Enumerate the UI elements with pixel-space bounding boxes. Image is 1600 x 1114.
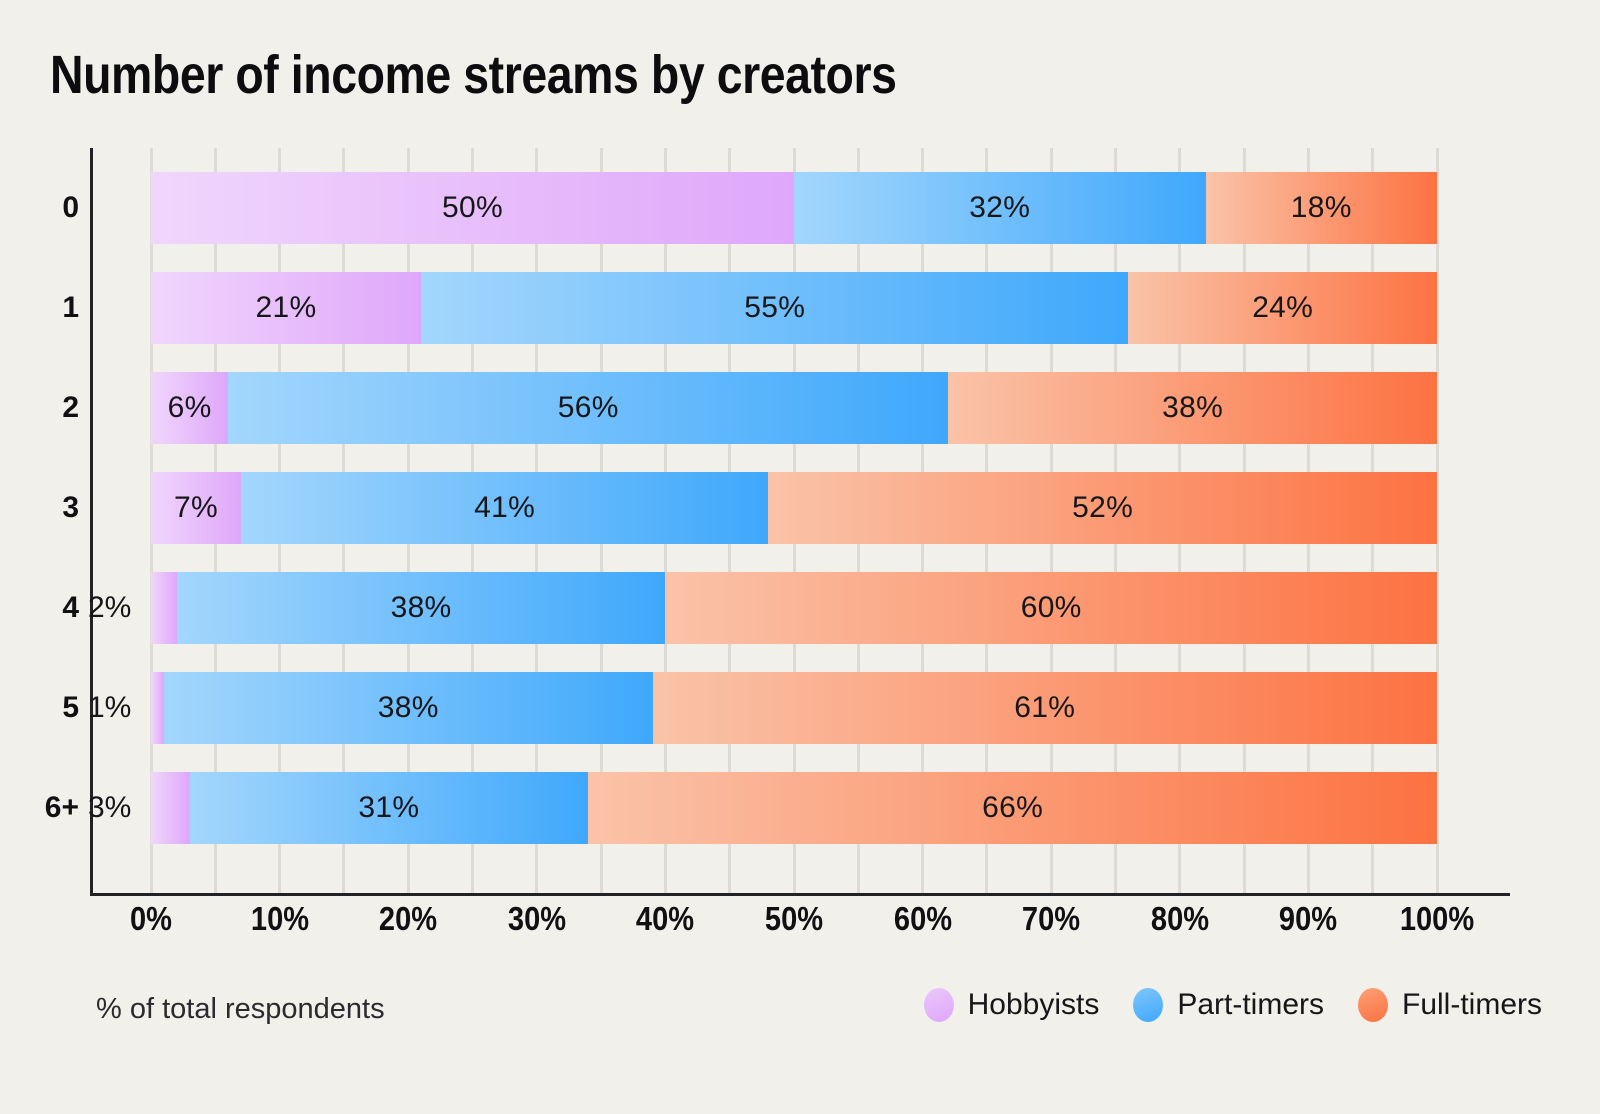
stacked-bar: 38%61% bbox=[151, 672, 1437, 744]
y-axis-category-label: 2 bbox=[35, 372, 79, 444]
bar-segment-hobbyists[interactable] bbox=[151, 672, 164, 744]
y-axis-category-label: 3 bbox=[35, 472, 79, 544]
bar-value-label-outside: 2% bbox=[88, 572, 131, 644]
stacked-bar: 6%56%38% bbox=[151, 372, 1437, 444]
legend-item-fulltimers[interactable]: Full-timers bbox=[1358, 988, 1542, 1022]
bar-row: 050%32%18% bbox=[90, 172, 1510, 244]
stacked-bar: 7%41%52% bbox=[151, 472, 1437, 544]
x-axis-tick-label: 80% bbox=[1151, 900, 1209, 938]
bar-value-label: 6% bbox=[168, 391, 212, 425]
legend-swatch-icon bbox=[1133, 988, 1163, 1022]
y-axis-category-label: 0 bbox=[35, 172, 79, 244]
legend-item-parttimers[interactable]: Part-timers bbox=[1133, 988, 1324, 1022]
bar-segment-parttimers[interactable]: 56% bbox=[228, 372, 948, 444]
bar-value-label-outside: 1% bbox=[88, 672, 131, 744]
stacked-bar: 31%66% bbox=[151, 772, 1437, 844]
bar-segment-hobbyists[interactable] bbox=[151, 772, 190, 844]
bar-value-label: 24% bbox=[1252, 291, 1313, 325]
bar-segment-fulltimers[interactable]: 66% bbox=[588, 772, 1437, 844]
bar-segment-fulltimers[interactable]: 18% bbox=[1206, 172, 1437, 244]
bar-value-label: 31% bbox=[358, 791, 419, 825]
bar-segment-hobbyists[interactable]: 50% bbox=[151, 172, 794, 244]
bar-value-label: 38% bbox=[378, 691, 439, 725]
bar-value-label: 61% bbox=[1014, 691, 1075, 725]
bar-value-label: 38% bbox=[1162, 391, 1223, 425]
bar-row: 37%41%52% bbox=[90, 472, 1510, 544]
x-axis-line bbox=[90, 893, 1510, 896]
stacked-bar: 50%32%18% bbox=[151, 172, 1437, 244]
x-axis-tick-label: 20% bbox=[379, 900, 437, 938]
bar-segment-fulltimers[interactable]: 24% bbox=[1128, 272, 1437, 344]
stacked-bar: 21%55%24% bbox=[151, 272, 1437, 344]
bar-value-label: 18% bbox=[1291, 191, 1352, 225]
bar-value-label: 50% bbox=[442, 191, 503, 225]
y-axis-category-label: 4 bbox=[35, 572, 79, 644]
legend-label: Part-timers bbox=[1177, 988, 1324, 1022]
bar-row: 26%56%38% bbox=[90, 372, 1510, 444]
bar-row: 121%55%24% bbox=[90, 272, 1510, 344]
bar-value-label: 56% bbox=[558, 391, 619, 425]
bar-value-label: 38% bbox=[391, 591, 452, 625]
bar-value-label: 55% bbox=[744, 291, 805, 325]
legend-swatch-icon bbox=[1358, 988, 1388, 1022]
legend-swatch-icon bbox=[924, 988, 954, 1022]
x-axis-tick-label: 100% bbox=[1400, 900, 1474, 938]
x-axis-tick-label: 70% bbox=[1022, 900, 1080, 938]
page-title: Number of income streams by creators bbox=[50, 44, 897, 106]
x-axis-tick-label: 40% bbox=[636, 900, 694, 938]
y-axis-category-label: 1 bbox=[35, 272, 79, 344]
bar-value-label: 41% bbox=[474, 491, 535, 525]
bar-value-label: 7% bbox=[174, 491, 218, 525]
bar-value-label-outside: 3% bbox=[88, 772, 131, 844]
bar-segment-parttimers[interactable]: 55% bbox=[421, 272, 1128, 344]
bar-value-label: 66% bbox=[982, 791, 1043, 825]
y-axis-category-label: 6+ bbox=[35, 772, 79, 844]
bar-segment-fulltimers[interactable]: 38% bbox=[948, 372, 1437, 444]
bar-segment-fulltimers[interactable]: 60% bbox=[665, 572, 1437, 644]
x-axis-tick-label: 30% bbox=[508, 900, 566, 938]
bar-row: 42%38%60% bbox=[90, 572, 1510, 644]
bar-rows: 050%32%18%121%55%24%26%56%38%37%41%52%42… bbox=[90, 148, 1510, 893]
legend: HobbyistsPart-timersFull-timers bbox=[924, 988, 1542, 1022]
bar-segment-fulltimers[interactable]: 52% bbox=[768, 472, 1437, 544]
legend-item-hobbyists[interactable]: Hobbyists bbox=[924, 988, 1100, 1022]
x-axis-tick-label: 60% bbox=[894, 900, 952, 938]
bar-segment-hobbyists[interactable]: 7% bbox=[151, 472, 241, 544]
bar-value-label: 52% bbox=[1072, 491, 1133, 525]
bar-value-label: 60% bbox=[1021, 591, 1082, 625]
x-axis-tick-label: 50% bbox=[765, 900, 823, 938]
bar-row: 6+3%31%66% bbox=[90, 772, 1510, 844]
bar-value-label: 32% bbox=[969, 191, 1030, 225]
x-axis-tick-label: 10% bbox=[251, 900, 309, 938]
bar-segment-fulltimers[interactable]: 61% bbox=[653, 672, 1437, 744]
bar-segment-parttimers[interactable]: 38% bbox=[164, 672, 653, 744]
bar-segment-parttimers[interactable]: 38% bbox=[177, 572, 666, 644]
bar-value-label: 21% bbox=[256, 291, 317, 325]
x-axis-tick-label: 0% bbox=[130, 900, 172, 938]
y-axis-category-label: 5 bbox=[35, 672, 79, 744]
legend-label: Hobbyists bbox=[968, 988, 1100, 1022]
x-axis-tick-label: 90% bbox=[1279, 900, 1337, 938]
stacked-bar: 38%60% bbox=[151, 572, 1437, 644]
bar-segment-hobbyists[interactable]: 6% bbox=[151, 372, 228, 444]
bar-segment-hobbyists[interactable] bbox=[151, 572, 177, 644]
bar-segment-parttimers[interactable]: 31% bbox=[190, 772, 589, 844]
x-axis-tick-labels: 0%10%20%30%40%50%60%70%80%90%100% bbox=[90, 900, 1510, 944]
legend-label: Full-timers bbox=[1402, 988, 1542, 1022]
bar-segment-parttimers[interactable]: 32% bbox=[794, 172, 1206, 244]
bar-segment-parttimers[interactable]: 41% bbox=[241, 472, 768, 544]
plot-area: 050%32%18%121%55%24%26%56%38%37%41%52%42… bbox=[90, 148, 1510, 896]
footnote: % of total respondents bbox=[96, 993, 385, 1026]
bar-segment-hobbyists[interactable]: 21% bbox=[151, 272, 421, 344]
bar-row: 51%38%61% bbox=[90, 672, 1510, 744]
